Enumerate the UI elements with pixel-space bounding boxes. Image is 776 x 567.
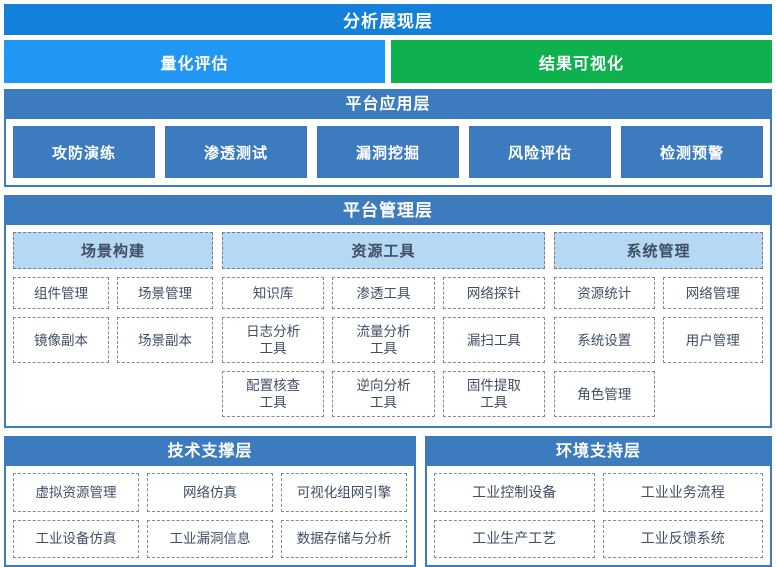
leaf-scene-management[interactable]: 场景管理 (117, 277, 213, 309)
application-layer-grid: 攻防演练 渗透测试 漏洞挖掘 风险评估 检测预警 (13, 126, 763, 178)
leaf-log-analysis-tool[interactable]: 日志分析 工具 (222, 317, 324, 363)
leaf-system-settings[interactable]: 系统设置 (554, 317, 655, 363)
leaf-scene-replica[interactable]: 场景副本 (117, 317, 213, 363)
leaf-visual-networking-engine[interactable]: 可视化组网引擎 (281, 473, 407, 512)
group-grid-resource-tools: 知识库 渗透工具 网络探针 日志分析 工具 流量分析 工具 漏扫工具 配置核查 … (222, 277, 545, 417)
application-layer-panel: 平台应用层 攻防演练 渗透测试 漏洞挖掘 风险评估 检测预警 (4, 89, 772, 187)
environment-layer-body: 工业控制设备 工业业务流程 工业生产工艺 工业反馈系统 (427, 466, 770, 565)
leaf-resource-statistics[interactable]: 资源统计 (554, 277, 655, 309)
group-grid-scene-construction: 组件管理 场景管理 镜像副本 场景副本 (13, 277, 213, 363)
app-item-penetration-test[interactable]: 渗透测试 (165, 126, 307, 178)
group-title-system-management: 系统管理 (554, 232, 763, 269)
leaf-placeholder (663, 371, 764, 417)
analysis-layer-chips: 量化评估 结果可视化 (4, 40, 772, 83)
group-title-scene-construction: 场景构建 (13, 232, 213, 269)
environment-layer-panel: 环境支持层 工业控制设备 工业业务流程 工业生产工艺 工业反馈系统 (425, 436, 772, 567)
application-layer-body: 攻防演练 渗透测试 漏洞挖掘 风险评估 检测预警 (6, 119, 770, 185)
leaf-industrial-business-process[interactable]: 工业业务流程 (603, 473, 764, 512)
leaf-configuration-audit-tool[interactable]: 配置核查 工具 (222, 371, 324, 417)
leaf-virtual-resource-management[interactable]: 虚拟资源管理 (13, 473, 139, 512)
group-title-resource-tools: 资源工具 (222, 232, 545, 269)
chip-quantitative-assessment[interactable]: 量化评估 (4, 40, 385, 83)
leaf-firmware-extraction-tool[interactable]: 固件提取 工具 (443, 371, 545, 417)
leaf-penetration-tool[interactable]: 渗透工具 (332, 277, 434, 309)
application-layer-title: 平台应用层 (6, 91, 770, 119)
management-group-scene-construction: 场景构建 组件管理 场景管理 镜像副本 场景副本 (13, 232, 213, 417)
app-item-detection-alert[interactable]: 检测预警 (621, 126, 763, 178)
leaf-knowledge-base[interactable]: 知识库 (222, 277, 324, 309)
app-item-risk-assessment[interactable]: 风险评估 (469, 126, 611, 178)
leaf-data-storage-and-analysis[interactable]: 数据存储与分析 (281, 520, 407, 559)
management-layer-panel: 平台管理层 场景构建 组件管理 场景管理 镜像副本 场景副本 资源工具 知识库 … (4, 195, 772, 428)
leaf-network-simulation[interactable]: 网络仿真 (147, 473, 273, 512)
technology-layer-body: 虚拟资源管理 网络仿真 可视化组网引擎 工业设备仿真 工业漏洞信息 数据存储与分… (6, 466, 414, 565)
leaf-component-management[interactable]: 组件管理 (13, 277, 109, 309)
leaf-image-replica[interactable]: 镜像副本 (13, 317, 109, 363)
analysis-layer-header: 分析展现层 (4, 4, 772, 35)
leaf-industrial-feedback-system[interactable]: 工业反馈系统 (603, 520, 764, 559)
leaf-network-probe[interactable]: 网络探针 (443, 277, 545, 309)
leaf-industrial-device-simulation[interactable]: 工业设备仿真 (13, 520, 139, 559)
environment-layer-grid: 工业控制设备 工业业务流程 工业生产工艺 工业反馈系统 (434, 473, 763, 558)
leaf-traffic-analysis-tool[interactable]: 流量分析 工具 (332, 317, 434, 363)
leaf-industrial-production-process[interactable]: 工业生产工艺 (434, 520, 595, 559)
leaf-industrial-vulnerability-info[interactable]: 工业漏洞信息 (147, 520, 273, 559)
leaf-network-management[interactable]: 网络管理 (663, 277, 764, 309)
group-grid-system-management: 资源统计 网络管理 系统设置 用户管理 角色管理 (554, 277, 763, 417)
bottom-layers-row: 技术支撑层 虚拟资源管理 网络仿真 可视化组网引擎 工业设备仿真 工业漏洞信息 … (4, 436, 772, 567)
management-group-system-management: 系统管理 资源统计 网络管理 系统设置 用户管理 角色管理 (554, 232, 763, 417)
management-layer-title: 平台管理层 (6, 197, 770, 225)
leaf-user-management[interactable]: 用户管理 (663, 317, 764, 363)
architecture-diagram: 分析展现层 量化评估 结果可视化 平台应用层 攻防演练 渗透测试 漏洞挖掘 风险… (0, 0, 776, 562)
technology-layer-panel: 技术支撑层 虚拟资源管理 网络仿真 可视化组网引擎 工业设备仿真 工业漏洞信息 … (4, 436, 416, 567)
app-item-attack-defense-drill[interactable]: 攻防演练 (13, 126, 155, 178)
leaf-industrial-control-device[interactable]: 工业控制设备 (434, 473, 595, 512)
management-layer-body: 场景构建 组件管理 场景管理 镜像副本 场景副本 资源工具 知识库 渗透工具 网… (6, 225, 770, 426)
app-item-vulnerability-mining[interactable]: 漏洞挖掘 (317, 126, 459, 178)
leaf-reverse-analysis-tool[interactable]: 逆向分析 工具 (332, 371, 434, 417)
management-group-resource-tools: 资源工具 知识库 渗透工具 网络探针 日志分析 工具 流量分析 工具 漏扫工具 … (222, 232, 545, 417)
technology-layer-title: 技术支撑层 (6, 438, 414, 466)
leaf-role-management[interactable]: 角色管理 (554, 371, 655, 417)
technology-layer-grid: 虚拟资源管理 网络仿真 可视化组网引擎 工业设备仿真 工业漏洞信息 数据存储与分… (13, 473, 407, 558)
environment-layer-title: 环境支持层 (427, 438, 770, 466)
leaf-vulnerability-scan-tool[interactable]: 漏扫工具 (443, 317, 545, 363)
chip-result-visualization[interactable]: 结果可视化 (391, 40, 772, 83)
